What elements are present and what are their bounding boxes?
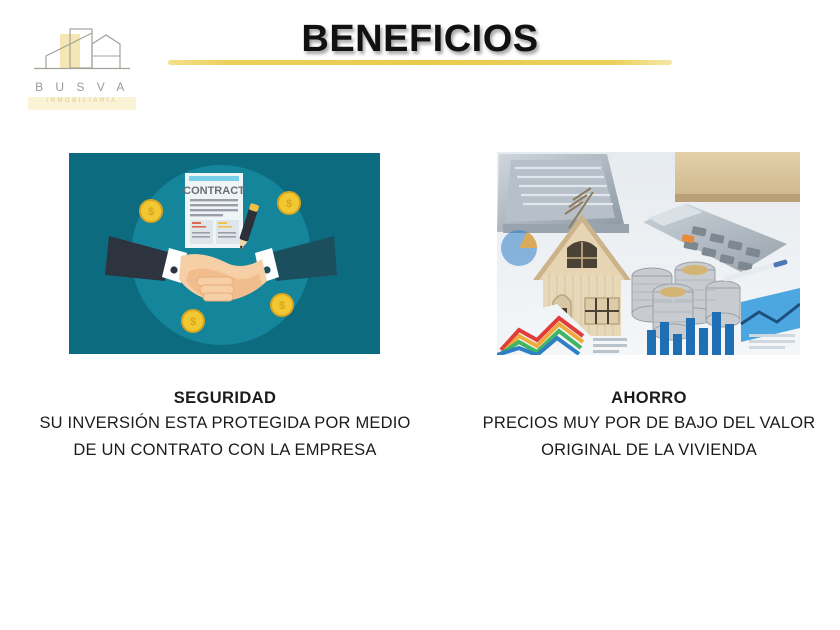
benefit-heading-seguridad: SEGURIDAD <box>36 386 414 410</box>
benefit-image-seguridad: CONTRACT <box>69 153 380 354</box>
slide-beneficios: B U S V A INMOBILIARIA BENEFICIOS CONTRA… <box>0 0 840 630</box>
benefit-body-ahorro: PRECIOS MUY POR DE BAJO DEL VALOR ORIGIN… <box>460 410 838 464</box>
svg-text:$: $ <box>148 206 154 218</box>
title-underline-rule <box>168 60 672 65</box>
svg-text:$: $ <box>286 198 292 210</box>
benefit-body-seguridad: SU INVERSIÓN ESTA PROTEGIDA POR MEDIO DE… <box>36 410 414 464</box>
benefit-heading-ahorro: AHORRO <box>460 386 838 410</box>
benefit-caption-seguridad: SEGURIDAD SU INVERSIÓN ESTA PROTEGIDA PO… <box>36 386 414 464</box>
logo-wordmark: B U S V A <box>26 80 138 94</box>
svg-text:$: $ <box>190 316 196 328</box>
benefit-image-ahorro <box>497 152 800 355</box>
contract-document: CONTRACT <box>183 173 245 248</box>
page-title: BENEFICIOS <box>0 18 840 61</box>
laptop <box>497 154 629 233</box>
logo-subtitle: INMOBILIARIA <box>26 98 138 104</box>
svg-text:$: $ <box>279 300 285 312</box>
svg-text:CONTRACT: CONTRACT <box>183 185 245 197</box>
benefit-caption-ahorro: AHORRO PRECIOS MUY POR DE BAJO DEL VALOR… <box>460 386 838 464</box>
